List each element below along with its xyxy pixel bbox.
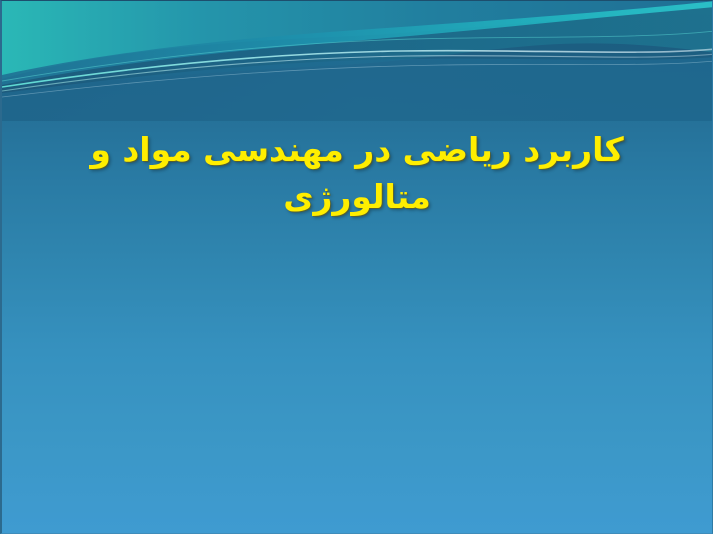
slide-title: کاربرد ریاضی در مهندسی مواد و متالورژی [58, 127, 656, 221]
subtitle-placeholder [82, 301, 632, 302]
title-placeholder: کاربرد ریاضی در مهندسی مواد و متالورژی [58, 127, 656, 221]
title-slide: کاربرد ریاضی در مهندسی مواد و متالورژی [0, 0, 713, 534]
slide-background [2, 1, 712, 533]
